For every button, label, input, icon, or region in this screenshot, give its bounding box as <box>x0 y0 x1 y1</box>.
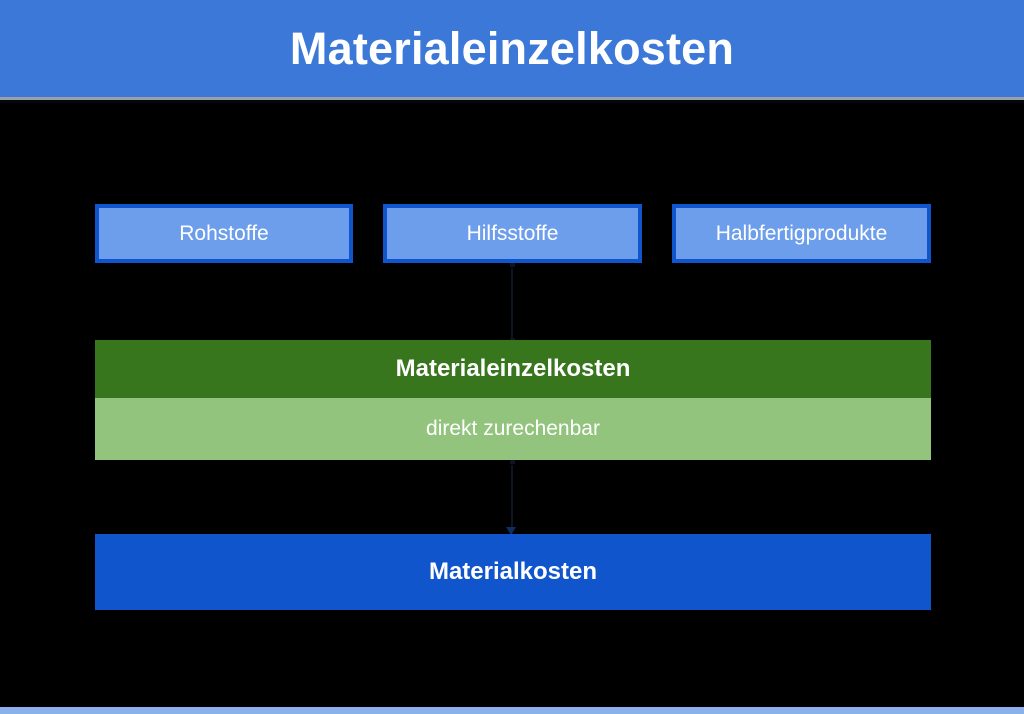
group-block-body: direkt zurechenbar <box>95 398 931 460</box>
source-box-hilfsstoffe[interactable]: Hilfsstoffe <box>383 204 642 263</box>
connector-node-group-bottom <box>510 460 515 464</box>
connector-node-top <box>510 263 515 267</box>
connector-line-group-to-total <box>511 465 513 533</box>
header-bar: Materialeinzelkosten <box>0 0 1024 97</box>
source-box-label: Rohstoffe <box>179 222 269 246</box>
group-block-materialeinzelkosten[interactable]: Materialeinzelkosten direkt zurechenbar <box>95 340 931 460</box>
group-block-body-label: direkt zurechenbar <box>426 417 600 441</box>
group-block-header: Materialeinzelkosten <box>95 340 931 398</box>
source-box-label: Halbfertigprodukte <box>716 222 888 246</box>
footer-accent-strip <box>0 707 1024 714</box>
total-bar-label: Materialkosten <box>429 558 597 586</box>
group-block-header-label: Materialeinzelkosten <box>396 355 631 383</box>
page-title: Materialeinzelkosten <box>290 26 734 71</box>
connector-line-sources-to-group <box>511 268 513 340</box>
total-bar-materialkosten[interactable]: Materialkosten <box>95 534 931 610</box>
source-box-halbfertigprodukte[interactable]: Halbfertigprodukte <box>672 204 931 263</box>
diagram-canvas: Rohstoffe Hilfsstoffe Halbfertigprodukte… <box>0 103 1024 707</box>
source-box-rohstoffe[interactable]: Rohstoffe <box>95 204 353 263</box>
source-box-label: Hilfsstoffe <box>467 222 559 246</box>
